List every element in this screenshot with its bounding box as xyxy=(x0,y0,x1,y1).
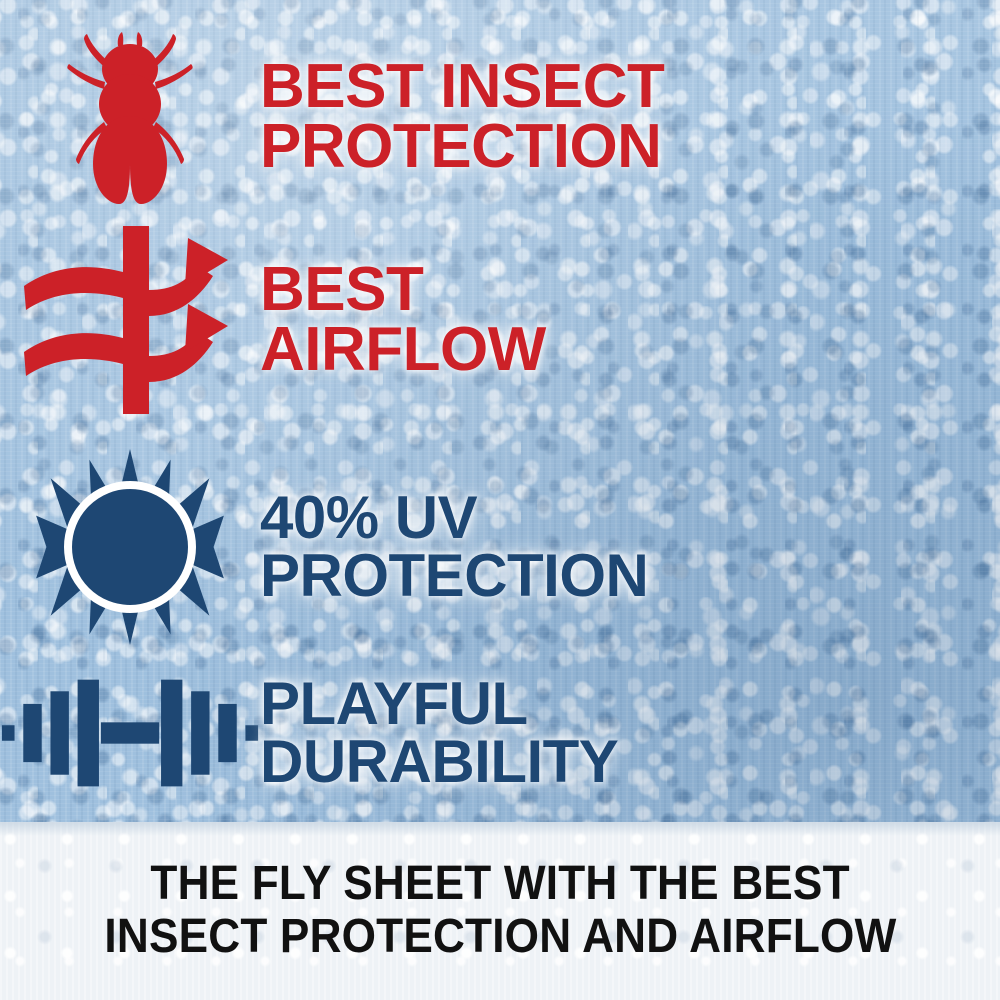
feature-line: 40% UV xyxy=(260,489,1000,547)
infographic-page: BEST INSECT PROTECTION xyxy=(0,0,1000,1000)
fly-icon-cell xyxy=(0,22,260,212)
feature-line: PLAYFUL xyxy=(260,675,1000,733)
sun-icon-cell xyxy=(0,442,260,652)
bottom-banner: THE FLY SHEET WITH THE BEST INSECT PROTE… xyxy=(0,822,1000,1000)
uv-protection-text: 40% UV PROTECTION xyxy=(260,489,1000,604)
feature-line: BEST xyxy=(260,260,1000,320)
feature-line: AIRFLOW xyxy=(260,320,1000,380)
banner-headline: THE FLY SHEET WITH THE BEST INSECT PROTE… xyxy=(0,822,1000,1000)
airflow-arrows-icon xyxy=(22,224,238,416)
feature-row-insect-protection: BEST INSECT PROTECTION xyxy=(0,22,1000,212)
airflow-icon-cell xyxy=(0,222,260,418)
feature-line: BEST INSECT xyxy=(260,57,1000,117)
feature-row-uv-protection: 40% UV PROTECTION xyxy=(0,442,1000,652)
dumbbell-icon xyxy=(0,670,260,796)
feature-line: DURABILITY xyxy=(260,733,1000,791)
airflow-text: BEST AIRFLOW xyxy=(260,260,1000,379)
feature-line: PROTECTION xyxy=(260,547,1000,605)
fly-icon xyxy=(55,24,205,210)
feature-row-airflow: BEST AIRFLOW xyxy=(0,222,1000,418)
sun-uv-icon xyxy=(30,447,230,647)
durability-text: PLAYFUL DURABILITY xyxy=(260,675,1000,790)
feature-line: PROTECTION xyxy=(260,117,1000,177)
dumbbell-icon-cell xyxy=(0,648,260,818)
insect-protection-text: BEST INSECT PROTECTION xyxy=(260,57,1000,176)
banner-line-2: INSECT PROTECTION AND AIRFLOW xyxy=(104,912,896,963)
feature-row-durability: PLAYFUL DURABILITY xyxy=(0,648,1000,818)
banner-line-1: THE FLY SHEET WITH THE BEST xyxy=(150,859,849,910)
